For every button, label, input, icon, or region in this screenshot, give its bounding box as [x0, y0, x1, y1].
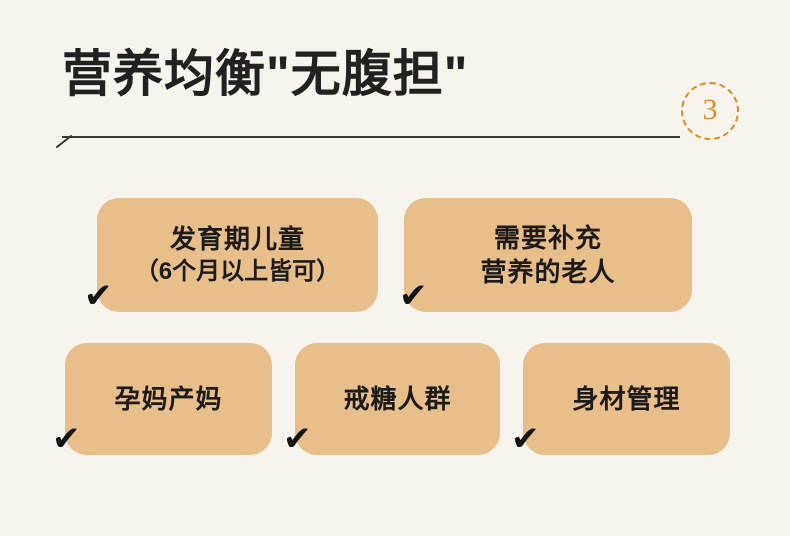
page-number-badge: 3 — [681, 82, 739, 140]
audience-card-title: 戒糖人群 — [343, 382, 451, 416]
check-icon: ✔ — [511, 422, 540, 456]
slide-root: 营养均衡"无腹担" 3 发育期儿童 （6个月以上皆可） ✔ 需要补充 营养的老人… — [0, 0, 790, 536]
audience-card-children[interactable]: 发育期儿童 （6个月以上皆可） — [97, 198, 378, 312]
audience-card-title: 孕妈产妈 — [114, 382, 222, 416]
title-underline-tail-icon — [56, 134, 72, 148]
audience-card-elderly[interactable]: 需要补充 营养的老人 — [404, 198, 692, 312]
audience-card-nosugar[interactable]: 戒糖人群 — [295, 343, 500, 455]
page-number-value: 3 — [703, 95, 718, 125]
check-icon: ✔ — [52, 422, 81, 456]
header: 营养均衡"无腹担" 3 — [0, 0, 790, 170]
check-icon: ✔ — [399, 279, 428, 313]
audience-card-title: 发育期儿童 — [170, 222, 305, 256]
audience-card-subtitle: （6个月以上皆可） — [135, 256, 340, 288]
audience-card-mothers[interactable]: 孕妈产妈 — [65, 343, 272, 455]
audience-card-title-second-line: 营养的老人 — [480, 255, 615, 289]
check-icon: ✔ — [84, 279, 113, 313]
audience-card-title: 身材管理 — [572, 382, 680, 416]
audience-card-title: 需要补充 — [494, 221, 602, 255]
page-title: 营养均衡"无腹担" — [62, 40, 468, 108]
check-icon: ✔ — [283, 422, 312, 456]
title-underline — [62, 136, 680, 138]
audience-card-fitness[interactable]: 身材管理 — [523, 343, 730, 455]
